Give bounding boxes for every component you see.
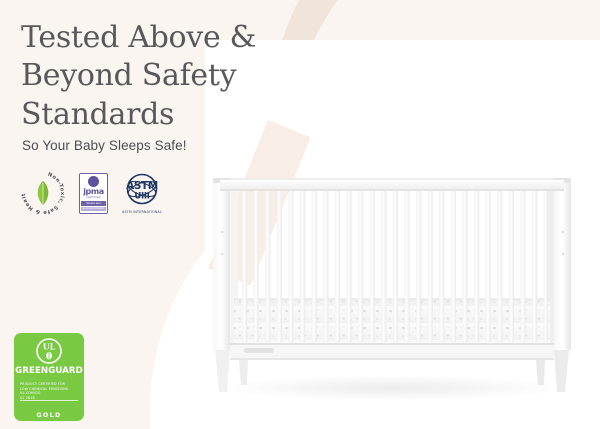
astm-subtitle: ASTM INTERNATIONAL	[119, 210, 165, 214]
headline-line-3: Standards	[21, 96, 321, 134]
greenguard-gold-badge: UL GREENGUARD PRODUCT CERTIFIED FOR LOW …	[14, 333, 84, 421]
greenguard-level-wrap: GOLD	[20, 400, 78, 421]
astm-seal: ASTM UIII ASTM INTERNATIONAL	[119, 172, 165, 214]
jpma-line-2: jpma.org/certification	[81, 207, 106, 211]
headline-line-2: Beyond Safety	[21, 57, 321, 95]
jpma-wordmark: jpma	[83, 188, 104, 196]
subheadline: So Your Baby Sleeps Safe!	[22, 138, 187, 153]
jpma-crest-icon	[88, 176, 99, 187]
svg-text:ASTM: ASTM	[126, 180, 158, 192]
greenguard-name: GREENGUARD	[15, 366, 83, 376]
svg-text:UL: UL	[43, 342, 56, 352]
svg-text:UIII: UIII	[134, 192, 149, 202]
leaf-icon	[38, 181, 49, 205]
greenguard-fine-print: PRODUCT CERTIFIED FOR LOW CHEMICAL EMISS…	[20, 382, 78, 400]
crib-illustration	[204, 170, 580, 405]
jpma-tagline: CERTIFIED	[86, 196, 101, 199]
non-toxic-seal: Non-Toxic, Safe & Healthy	[18, 168, 68, 218]
headline: Tested Above & Beyond Safety Standards	[21, 19, 321, 134]
certification-badge-row: Non-Toxic, Safe & Healthy jpma CERTIFIED…	[18, 168, 165, 218]
greenguard-level: GOLD	[36, 411, 61, 419]
safety-standards-banner: Tested Above & Beyond Safety Standards S…	[0, 0, 600, 429]
headline-line-1: Tested Above &	[21, 19, 321, 57]
ul-logo-icon: UL	[36, 338, 62, 364]
jpma-line-1: Tested and Proven	[81, 201, 106, 206]
jpma-seal: jpma CERTIFIED Tested and Proven jpma.or…	[79, 173, 108, 214]
